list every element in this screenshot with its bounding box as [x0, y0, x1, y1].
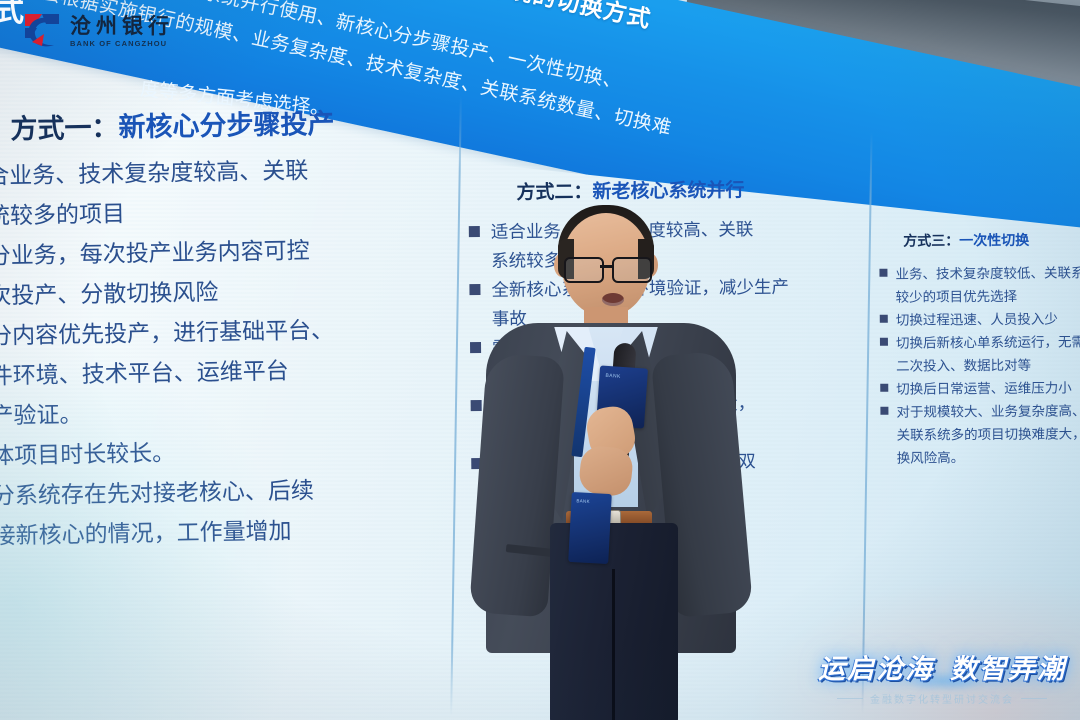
- slide-column-3: 方式三：一次性切换 业务、技术复杂度较低、关联系统 较少的项目优先选择 切换过程…: [879, 229, 1080, 470]
- bank-logo: 沧州银行 BANK OF CANGZHOU: [22, 12, 174, 52]
- bank-name-en: BANK OF CANGZHOU: [70, 40, 174, 48]
- speaker-glasses-icon: [562, 257, 650, 279]
- list-item: 整体项目时长较长。: [0, 429, 438, 476]
- speaker-badge-text: BANK: [576, 498, 590, 504]
- list-item: 硬件环境、技术平台、运维平台: [0, 349, 437, 396]
- list-item: 对于规模较大、业务复杂度高、: [880, 399, 1080, 424]
- list-item: 部分系统存在先对接老核心、后续: [0, 469, 439, 516]
- list-item: 较少的项目优先选择: [896, 284, 1080, 308]
- list-item: 部分内容优先投产，进行基础平台、: [0, 309, 436, 356]
- rule-left: [837, 698, 863, 699]
- list-item: 拆分业务，每次投产业务内容可控: [0, 229, 435, 276]
- bank-name-cn: 沧州银行: [70, 16, 174, 37]
- list-item: 切换后新核心单系统运行，无需: [880, 330, 1080, 355]
- speaker-mouth: [602, 293, 624, 306]
- microphone-flag-text: BANK: [605, 373, 621, 380]
- bullet-square-icon: [879, 269, 887, 277]
- bank-logo-mark-icon: [22, 12, 62, 52]
- list-item: 切换过程迅速、人员投入少: [880, 307, 1080, 332]
- rule-right: [1021, 698, 1047, 699]
- speaker-badge: BANK: [568, 492, 612, 564]
- list-item: 对接新核心的情况，工作量增加: [0, 509, 440, 556]
- list-item: 换风险高。: [897, 445, 1080, 469]
- list-item: 业务、技术复杂度较低、关联系统: [879, 261, 1080, 286]
- list-item: 关联系统多的项目切换难度大，切: [897, 422, 1080, 446]
- bullet-square-icon: [880, 315, 888, 323]
- speaker-hand-lower: [578, 444, 635, 497]
- speaker-trouser-seam: [612, 569, 615, 720]
- bullet-square-icon: [880, 384, 888, 392]
- slide-title: 信创环境的切换方式: [436, 0, 654, 34]
- list-item: 系统较多的项目: [0, 189, 434, 236]
- bullet-square-icon: [880, 407, 888, 415]
- bank-logo-text: 沧州银行 BANK OF CANGZHOU: [70, 16, 174, 48]
- column-3-title-prefix: 方式三：: [903, 232, 959, 248]
- event-title-right: 数智弄潮: [950, 654, 1066, 684]
- list-item: 适合业务、技术复杂度较高、关联: [0, 149, 434, 196]
- event-title-left: 运启沧海: [818, 654, 934, 684]
- list-item: 二次投入、数据比对等: [896, 353, 1080, 377]
- event-subtitle: 金融数字化转型研讨交流会: [870, 691, 1014, 706]
- screenshot-root: 信创环境的切换方式 主流的切换方式为三种：新老核心系统并行使用、新核心分步骤投产…: [0, 0, 1080, 720]
- column-3-title: 方式三：一次性切换: [903, 229, 1080, 250]
- column-1-title-prefix: 方式一：: [10, 112, 119, 144]
- list-item: 切换后日常运营、运维压力小: [880, 376, 1080, 401]
- list-item: 多次投产、分散切换风险: [0, 269, 436, 316]
- bullet-square-icon: [880, 338, 888, 346]
- event-watermark: 运启沧海数智弄潮 金融数字化转型研讨交流会: [818, 647, 1066, 706]
- speaker-person: BANK BANK: [470, 195, 770, 720]
- event-subtitle-row: 金融数字化转型研讨交流会: [818, 691, 1066, 706]
- column-3-title-main: 一次性切换: [959, 232, 1029, 248]
- event-title: 运启沧海数智弄潮: [818, 647, 1066, 686]
- list-item: 生产验证。: [0, 389, 438, 436]
- slide-column-1: 方式一：新核心分步骤投产 适合业务、技术复杂度较高、关联 系统较多的项目 拆分业…: [0, 100, 440, 557]
